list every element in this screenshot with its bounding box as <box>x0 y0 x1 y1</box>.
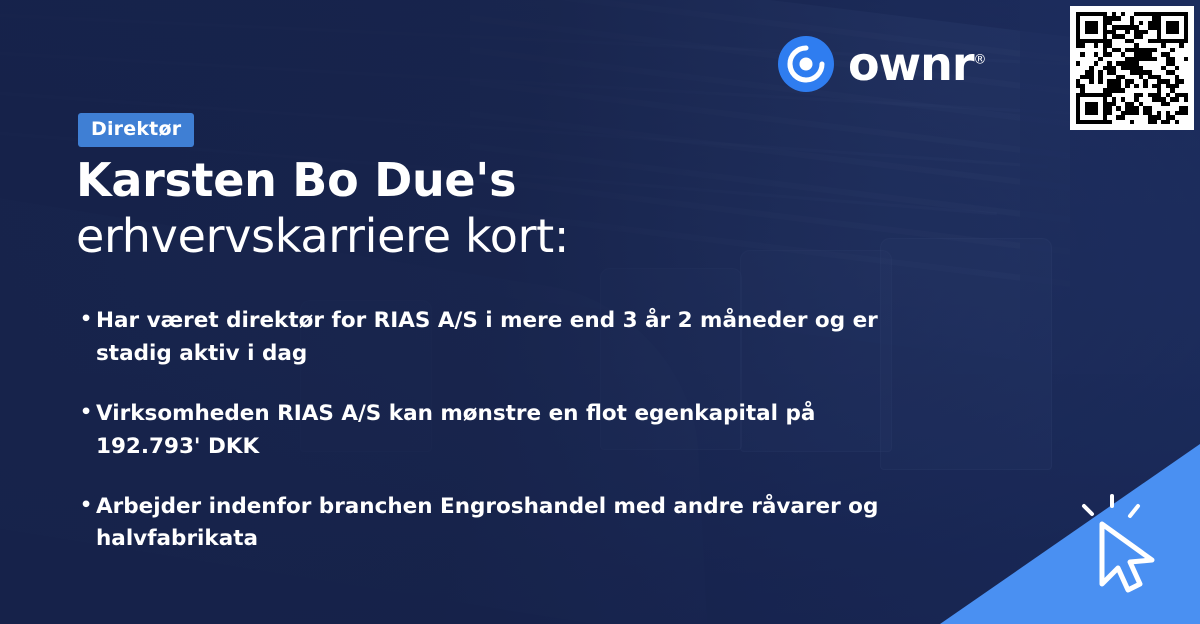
ownr-circle-logo-icon <box>778 36 834 92</box>
bullet-dot-icon: • <box>80 305 96 334</box>
list-item: •Arbejder indenfor branchen Engroshandel… <box>80 491 910 557</box>
bullet-dot-icon: • <box>80 491 96 520</box>
headline-line-2: erhvervskarriere kort: <box>76 208 569 264</box>
page-title: Karsten Bo Due's erhvervskarriere kort: <box>76 152 569 264</box>
brand-name: ownr® <box>848 41 986 87</box>
qr-code-icon[interactable] <box>1070 6 1194 130</box>
headline-line-1: Karsten Bo Due's <box>76 153 516 207</box>
click-cursor-icon <box>1068 488 1178 598</box>
fact-list: •Har været direktør for RIAS A/S i mere … <box>80 305 910 583</box>
bullet-dot-icon: • <box>80 398 96 427</box>
list-item: •Har været direktør for RIAS A/S i mere … <box>80 305 910 371</box>
list-item-text: Arbejder indenfor branchen Engroshandel … <box>96 491 910 557</box>
status-badge: Direktør <box>78 113 194 147</box>
registered-mark: ® <box>974 53 986 68</box>
brand-logo[interactable]: ownr® <box>778 36 986 92</box>
brand-name-text: ownr <box>848 37 974 91</box>
list-item-text: Virksomheden RIAS A/S kan mønstre en flo… <box>96 398 910 464</box>
list-item: •Virksomheden RIAS A/S kan mønstre en fl… <box>80 398 910 464</box>
list-item-text: Har været direktør for RIAS A/S i mere e… <box>96 305 910 371</box>
qr-code-grid <box>1076 12 1188 124</box>
promo-card: ownr® Direktør Karsten Bo Due's erhvervs… <box>0 0 1200 624</box>
